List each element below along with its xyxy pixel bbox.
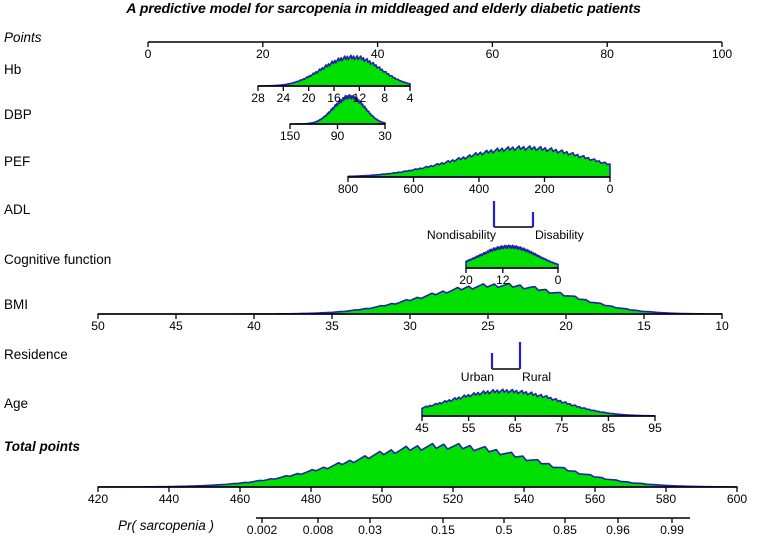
tick-label-bmi-7: 15 (637, 320, 651, 332)
row-label-total-points: Total points (4, 440, 80, 454)
tick-label-pr-sarcopenia-3: 0.15 (431, 524, 455, 536)
tick-label-cognitive-function-2: 0 (555, 274, 562, 286)
tick-label-pr-sarcopenia-1: 0.008 (303, 524, 334, 536)
tick-label-points-5: 100 (712, 48, 732, 60)
tick-label-total-points-4: 500 (372, 493, 392, 505)
tick-label-hb-2: 20 (302, 92, 316, 104)
tick-label-total-points-2: 460 (230, 493, 250, 505)
tick-label-hb-5: 8 (381, 92, 388, 104)
tick-label-bmi-2: 40 (247, 320, 261, 332)
row-label-pef: PEF (4, 155, 30, 169)
tick-label-age-3: 75 (555, 422, 569, 434)
density-curve-total-points (98, 444, 737, 487)
tick-label-pef-2: 400 (469, 183, 489, 195)
tick-label-bmi-4: 30 (403, 320, 417, 332)
density-curve-age (422, 389, 655, 416)
row-label-residence: Residence (4, 348, 68, 362)
tick-label-pef-0: 800 (338, 183, 358, 195)
row-label-bmi: BMI (4, 298, 28, 312)
tick-label-dbp-1: 90 (331, 130, 345, 142)
tick-label-total-points-0: 420 (88, 493, 108, 505)
tick-label-cognitive-function-1: 12 (496, 274, 510, 286)
row-label-pr-sarcopenia: Pr( sarcopenia ) (118, 519, 214, 533)
tick-label-hb-0: 28 (251, 92, 265, 104)
tick-label-pr-sarcopenia-6: 0.96 (606, 524, 630, 536)
tick-label-total-points-6: 540 (514, 493, 534, 505)
tick-label-pr-sarcopenia-7: 0.99 (660, 524, 684, 536)
tick-label-total-points-7: 560 (585, 493, 605, 505)
tick-label-hb-6: 4 (407, 92, 414, 104)
tick-label-age-2: 65 (508, 422, 522, 434)
row-label-cognitive-function: Cognitive function (4, 253, 111, 267)
category-label-residence-1: Rural (522, 371, 551, 383)
tick-label-points-1: 20 (256, 48, 270, 60)
row-label-adl: ADL (4, 203, 30, 217)
tick-label-dbp-2: 30 (378, 130, 392, 142)
row-label-age: Age (4, 397, 28, 411)
category-label-residence-0: Urban (461, 371, 494, 383)
tick-label-age-4: 85 (602, 422, 616, 434)
category-label-adl-1: Disability (535, 229, 584, 241)
tick-label-total-points-1: 440 (159, 493, 179, 505)
density-curve-bmi (98, 283, 722, 314)
tick-label-age-5: 95 (648, 422, 662, 434)
tick-label-pr-sarcopenia-4: 0.5 (496, 524, 513, 536)
nomogram-figure: A predictive model for sarcopenia in mid… (0, 0, 767, 538)
tick-label-points-2: 40 (371, 48, 385, 60)
tick-label-pef-4: 0 (607, 183, 614, 195)
tick-label-total-points-5: 520 (443, 493, 463, 505)
tick-label-total-points-9: 600 (727, 493, 747, 505)
tick-label-points-3: 60 (486, 48, 500, 60)
tick-label-hb-1: 24 (277, 92, 291, 104)
row-label-points: Points (4, 31, 42, 45)
tick-label-total-points-3: 480 (301, 493, 321, 505)
tick-label-bmi-5: 25 (481, 320, 495, 332)
density-curve-pef (348, 146, 610, 177)
tick-label-age-0: 45 (415, 422, 429, 434)
tick-label-age-1: 55 (462, 422, 476, 434)
tick-label-hb-4: 12 (353, 92, 367, 104)
category-label-adl-0: Nondisability (427, 229, 496, 241)
tick-label-cognitive-function-0: 20 (459, 274, 473, 286)
tick-label-dbp-0: 150 (280, 130, 300, 142)
density-curve-hb (258, 55, 410, 86)
tick-label-pef-3: 200 (534, 183, 554, 195)
tick-label-points-0: 0 (145, 48, 152, 60)
tick-label-hb-3: 16 (327, 92, 341, 104)
tick-label-points-4: 80 (600, 48, 614, 60)
tick-label-bmi-1: 45 (169, 320, 183, 332)
tick-label-pef-1: 600 (403, 183, 423, 195)
tick-label-pr-sarcopenia-5: 0.85 (553, 524, 577, 536)
tick-label-pr-sarcopenia-0: 0.002 (247, 524, 278, 536)
density-curve-cognitive-function (466, 245, 558, 268)
tick-label-bmi-0: 50 (91, 320, 105, 332)
row-label-dbp: DBP (4, 108, 32, 122)
tick-label-bmi-8: 10 (715, 320, 729, 332)
row-label-hb: Hb (4, 63, 21, 77)
nomogram-axes-layer (0, 0, 767, 538)
tick-label-total-points-8: 580 (656, 493, 676, 505)
tick-label-bmi-6: 20 (559, 320, 573, 332)
tick-label-bmi-3: 35 (325, 320, 339, 332)
tick-label-pr-sarcopenia-2: 0.03 (358, 524, 382, 536)
